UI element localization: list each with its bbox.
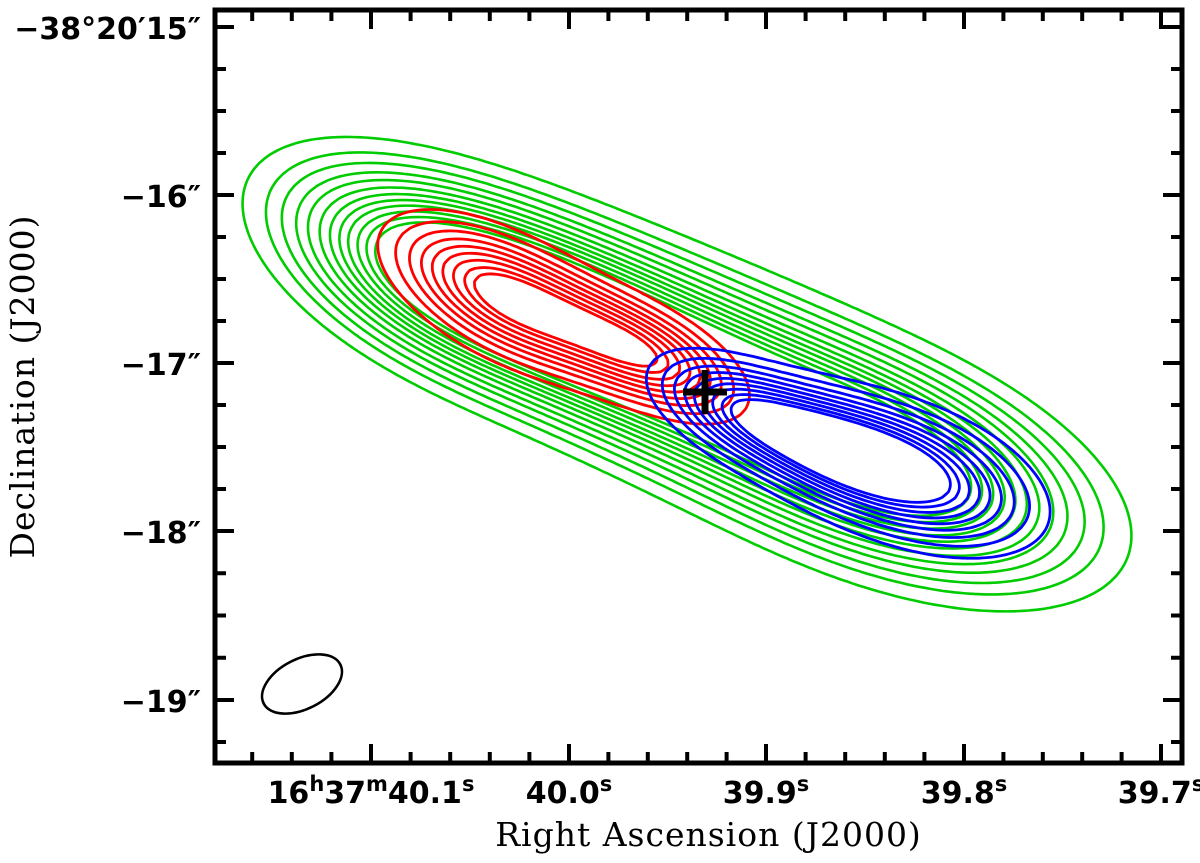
beam-ellipse: [252, 642, 351, 726]
y-tick-label-2: −17″: [121, 348, 201, 383]
y-tick-label-0: −38°20′15″: [14, 12, 201, 47]
x-axis-title: Right Ascension (J2000): [495, 815, 922, 854]
plot-svg: −38°20′15″−16″−17″−18″−19″16h37m40.1s40.…: [0, 0, 1200, 863]
x-tick-label-3: 39.8s: [921, 772, 1008, 811]
x-tick-label-4: 39.7s: [1118, 772, 1200, 811]
x-tick-label-1: 40.0s: [526, 772, 613, 811]
contour-figure: −38°20′15″−16″−17″−18″−19″16h37m40.1s40.…: [0, 0, 1200, 863]
y-tick-label-4: −19″: [121, 685, 201, 720]
y-tick-label-1: −16″: [121, 180, 201, 215]
y-tick-label-3: −18″: [121, 516, 201, 551]
y-axis-title: Declination (J2000): [3, 215, 42, 559]
x-tick-label-2: 39.9s: [723, 772, 810, 811]
x-tick-label-0: 16h37m40.1s: [268, 772, 475, 811]
contour-layer: [243, 137, 1132, 611]
